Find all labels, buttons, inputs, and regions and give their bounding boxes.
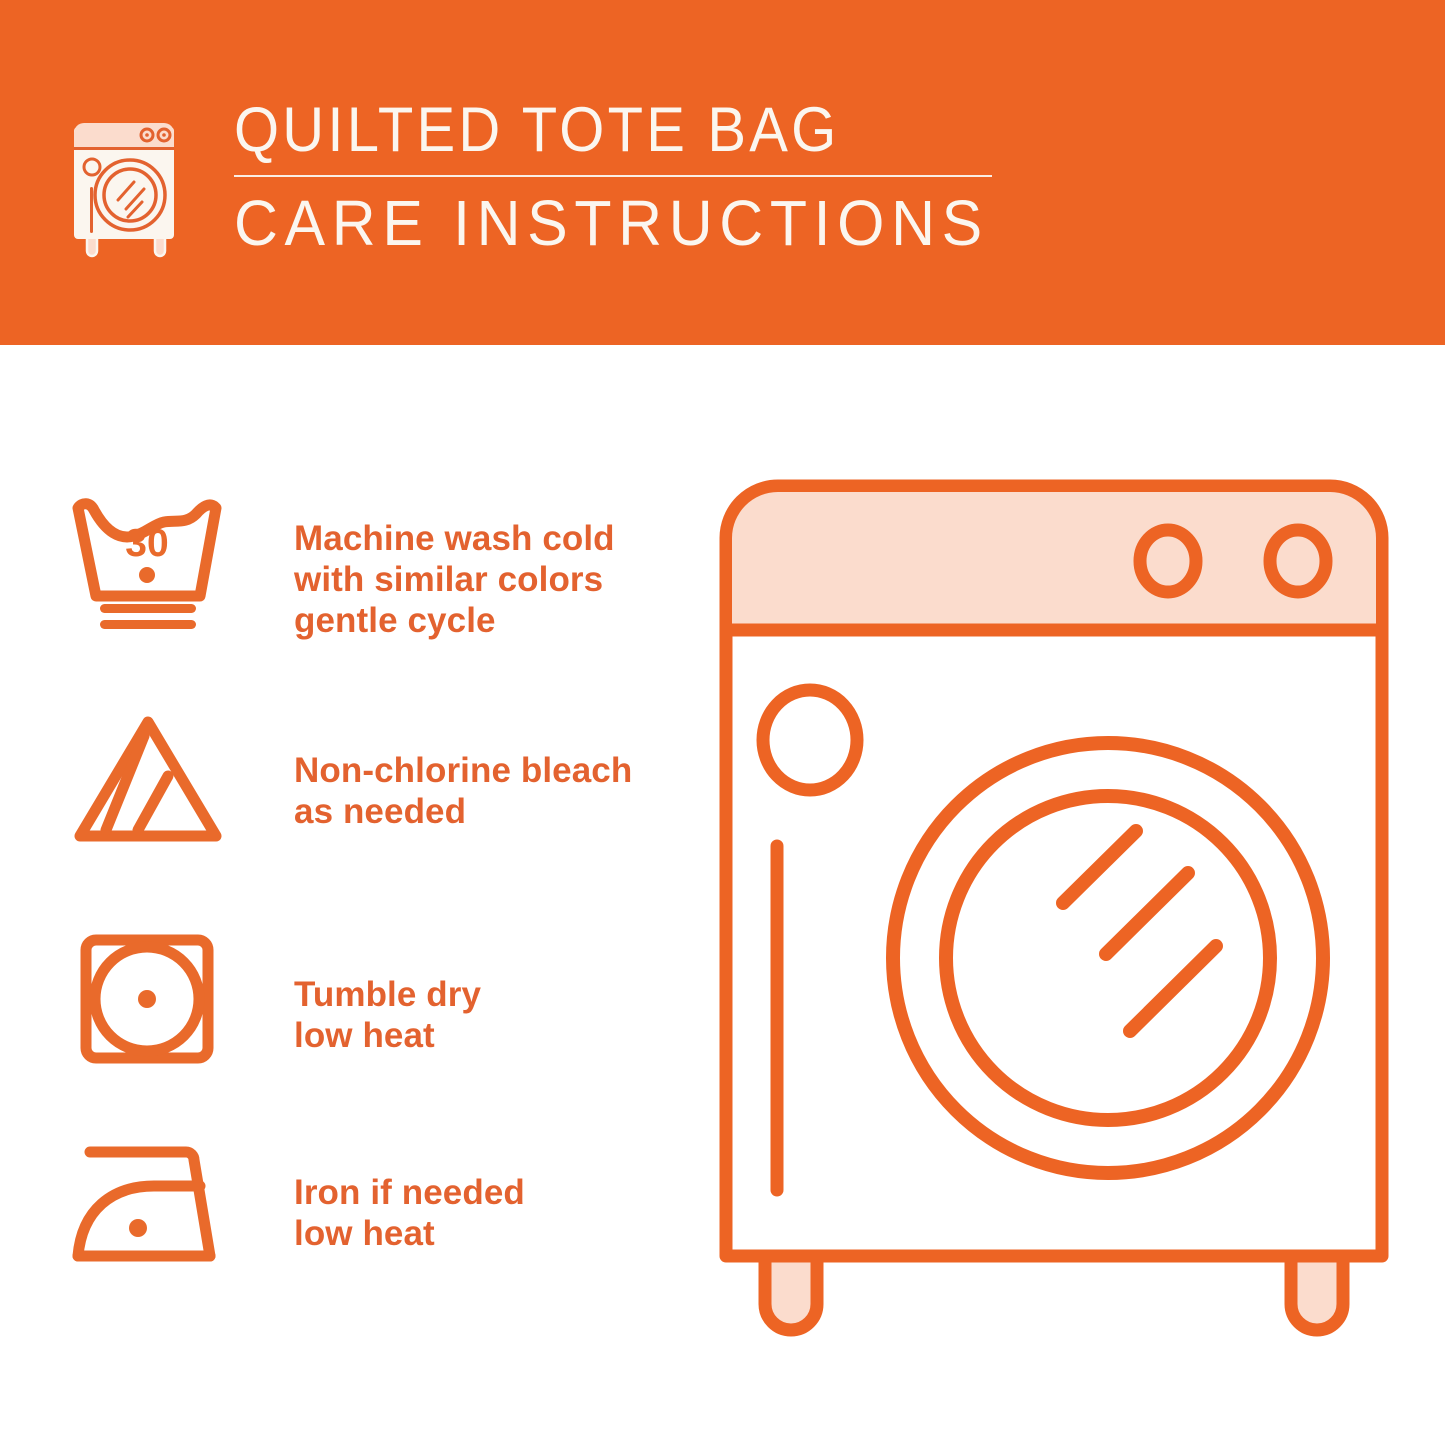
- title-divider: [234, 175, 992, 177]
- control-panel: [732, 492, 1376, 630]
- iron-low-heat-icon: [68, 1140, 246, 1270]
- care-row-iron: Iron if needed low heat: [68, 1140, 525, 1270]
- header-content: QUILTED TOTE BAG CARE INSTRUCTIONS: [68, 95, 994, 261]
- care-text-tumble-dry: Tumble dry low heat: [294, 924, 481, 1056]
- page-subtitle: CARE INSTRUCTIONS: [234, 187, 956, 259]
- svg-text:30: 30: [125, 522, 168, 565]
- front-load-washing-machine-illustration: [718, 478, 1390, 1378]
- care-text-iron: Iron if needed low heat: [294, 1140, 525, 1254]
- page-title: QUILTED TOTE BAG: [234, 95, 933, 165]
- care-text-machine-wash: Machine wash cold with similar colors ge…: [294, 492, 615, 641]
- tumble-dry-low-heat-icon: [68, 924, 246, 1066]
- care-row-machine-wash: 30 Machine wash cold with similar colors…: [68, 492, 615, 641]
- care-row-tumble-dry: Tumble dry low heat: [68, 924, 481, 1066]
- care-text-bleach: Non-chlorine bleach as needed: [294, 708, 632, 832]
- header-title-block: QUILTED TOTE BAG CARE INSTRUCTIONS: [234, 95, 994, 259]
- non-chlorine-bleach-triangle-icon: [68, 708, 246, 850]
- header-band: QUILTED TOTE BAG CARE INSTRUCTIONS: [0, 0, 1445, 345]
- care-instructions-page: QUILTED TOTE BAG CARE INSTRUCTIONS 30: [0, 0, 1445, 1445]
- wash-tub-30-gentle-icon: 30: [68, 492, 246, 634]
- care-row-bleach: Non-chlorine bleach as needed: [68, 708, 632, 850]
- washing-machine-icon: [68, 103, 186, 261]
